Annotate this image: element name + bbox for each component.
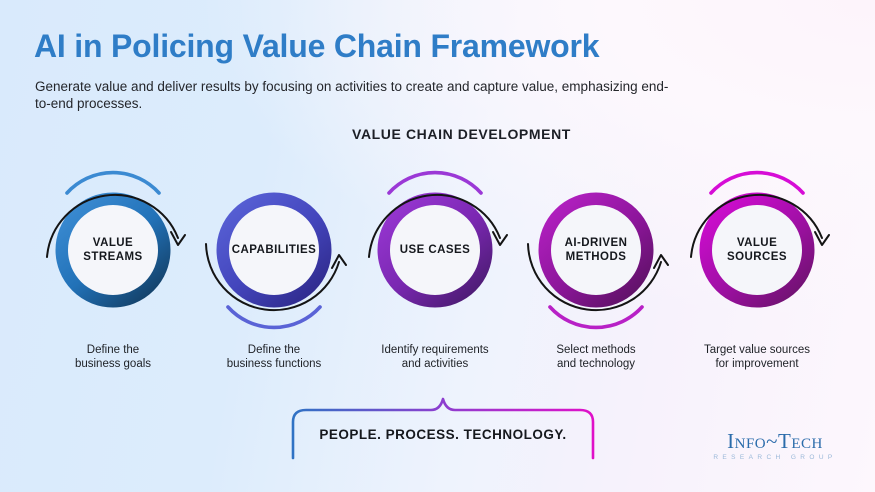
logo-tagline: RESEARCH GROUP [700, 454, 850, 461]
footer-tagline: PEOPLE. PROCESS. TECHNOLOGY. [288, 427, 598, 442]
chain-node-value-streams[interactable]: VALUESTREAMS Define the business goals [31, 160, 195, 360]
node-caption-line1: Select methods [556, 344, 635, 356]
node-caption-line2: and technology [557, 358, 635, 370]
ring-graphic [675, 160, 839, 340]
node-caption-line1: Identify requirements [381, 344, 488, 356]
node-caption-line2: for improvement [715, 358, 798, 370]
logo: Info~Tech RESEARCH GROUP [700, 430, 850, 461]
page-title: AI in Policing Value Chain Framework [34, 28, 599, 65]
infographic-canvas: AI in Policing Value Chain Framework Gen… [0, 0, 875, 492]
node-caption-line2: business functions [227, 358, 322, 370]
page-subtitle: Generate value and deliver results by fo… [35, 78, 675, 112]
chain-node-use-cases[interactable]: USE CASES Identify requirements and acti… [353, 160, 517, 360]
ring-graphic [353, 160, 517, 340]
chain-node-capabilities[interactable]: CAPABILITIES Define the business functio… [192, 160, 356, 360]
ring-graphic [192, 160, 356, 340]
chain-node-value-sources[interactable]: VALUESOURCES Target value sources for im… [675, 160, 839, 360]
chain-node-ai-driven-methods[interactable]: AI-DRIVENMETHODS Select methods and tech… [514, 160, 678, 360]
ring-graphic [31, 160, 195, 340]
ring-graphic [514, 160, 678, 340]
section-heading: VALUE CHAIN DEVELOPMENT [0, 126, 875, 142]
node-caption-line1: Target value sources [704, 344, 810, 356]
node-caption-line1: Define the [248, 344, 300, 356]
node-caption-line2: business goals [75, 358, 151, 370]
value-chain-row: VALUESTREAMS Define the business goals [0, 160, 875, 380]
logo-wordmark: Info~Tech [700, 430, 850, 452]
node-caption: Target value sources for improvement [657, 343, 857, 371]
node-caption-line2: and activities [402, 358, 468, 370]
node-caption-line1: Define the [87, 344, 139, 356]
